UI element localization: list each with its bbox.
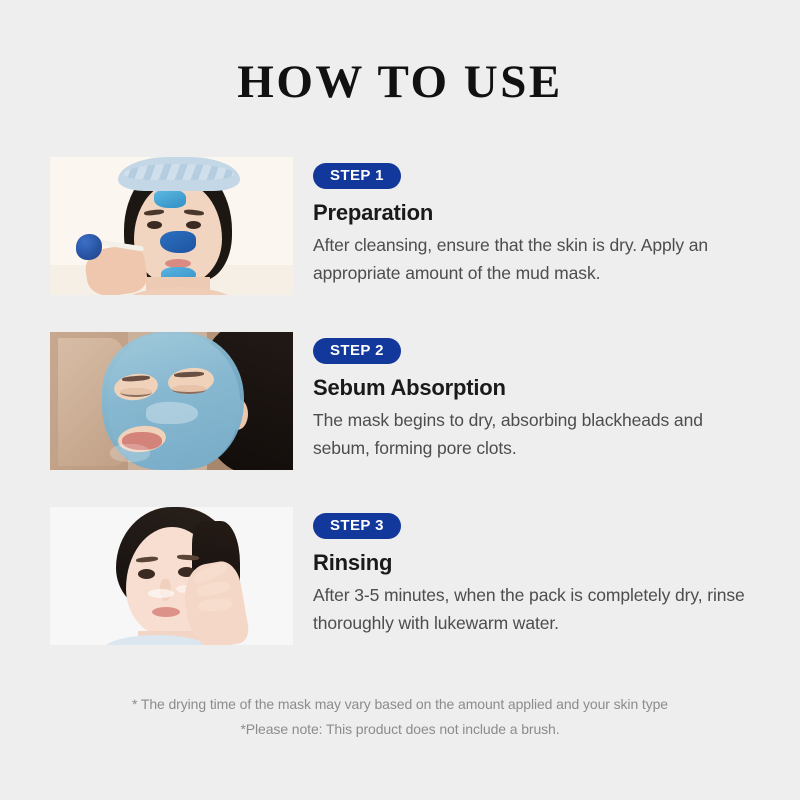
step-1-body: STEP 1 Preparation After cleansing, ensu… xyxy=(313,163,758,287)
step-2-badge: STEP 2 xyxy=(313,338,401,364)
step-item: STEP 3 Rinsing After 3-5 minutes, when t… xyxy=(0,507,800,682)
step-2-body: STEP 2 Sebum Absorption The mask begins … xyxy=(313,338,758,462)
step-3-body: STEP 3 Rinsing After 3-5 minutes, when t… xyxy=(313,513,758,637)
mud-scoop-icon xyxy=(76,234,102,260)
step-3-title: Rinsing xyxy=(313,550,758,576)
step-item: STEP 2 Sebum Absorption The mask begins … xyxy=(0,332,800,507)
step-3-description: After 3-5 minutes, when the pack is comp… xyxy=(313,582,758,636)
step-1-badge: STEP 1 xyxy=(313,163,401,189)
step-item: STEP 1 Preparation After cleansing, ensu… xyxy=(0,157,800,332)
step-2-photo xyxy=(50,332,293,470)
mask-patch-nose-icon xyxy=(160,231,196,253)
step-3-badge: STEP 3 xyxy=(313,513,401,539)
how-to-use-infographic: HOW TO USE xyxy=(0,0,800,800)
footnote-drying-time: * The drying time of the mask may vary b… xyxy=(0,692,800,717)
footnotes: * The drying time of the mask may vary b… xyxy=(0,692,800,741)
page-title: HOW TO USE xyxy=(0,57,800,109)
mask-patch-forehead-icon xyxy=(154,190,186,208)
step-1-description: After cleansing, ensure that the skin is… xyxy=(313,232,758,286)
step-1-title: Preparation xyxy=(313,200,758,226)
step-1-photo xyxy=(50,157,293,295)
step-2-title: Sebum Absorption xyxy=(313,375,758,401)
step-3-photo xyxy=(50,507,293,645)
steps-list: STEP 1 Preparation After cleansing, ensu… xyxy=(0,157,800,682)
footnote-no-brush: *Please note: This product does not incl… xyxy=(0,717,800,742)
headband-icon xyxy=(118,157,240,191)
step-2-description: The mask begins to dry, absorbing blackh… xyxy=(313,407,758,461)
